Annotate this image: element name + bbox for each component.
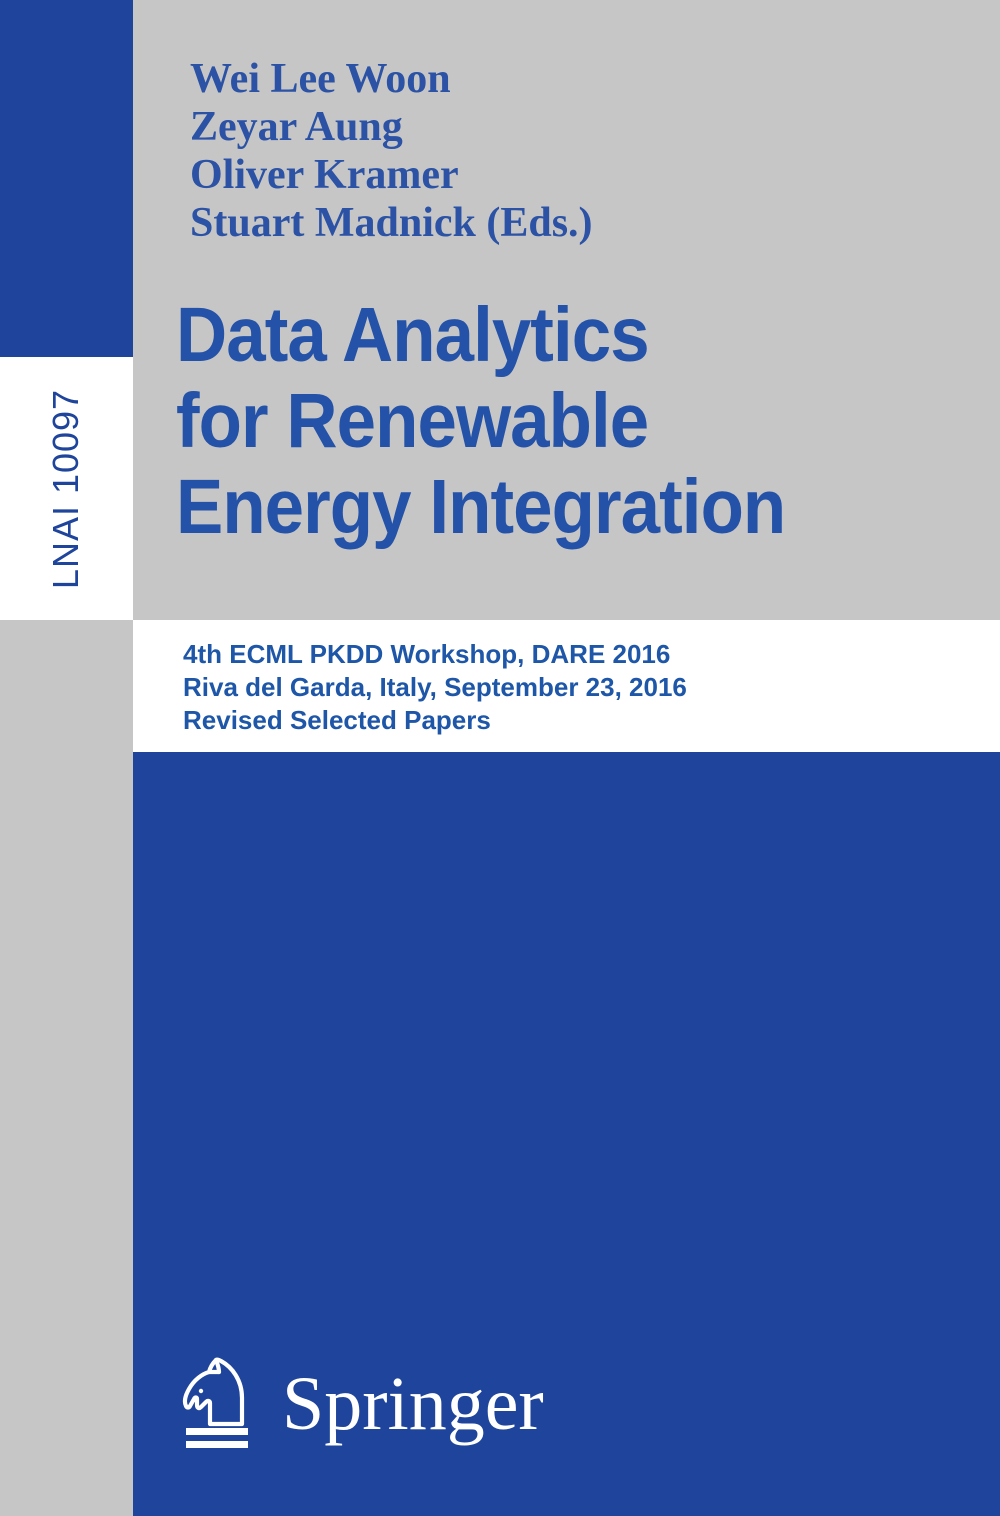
book-title-line: Energy Integration bbox=[176, 464, 912, 550]
spine-series-text: LNAI 10097 bbox=[46, 388, 88, 588]
book-cover: LNAI 10097 Wei Lee Woon Zeyar Aung Olive… bbox=[0, 0, 1000, 1516]
editor-name: Zeyar Aung bbox=[190, 103, 930, 151]
spine-top-blue-bar bbox=[0, 0, 133, 357]
editor-name: Stuart Madnick (Eds.) bbox=[190, 199, 930, 247]
book-subtitle-line: Riva del Garda, Italy, September 23, 201… bbox=[183, 671, 943, 704]
editor-list: Wei Lee Woon Zeyar Aung Oliver Kramer St… bbox=[190, 55, 930, 247]
left-gray-strip bbox=[0, 620, 133, 1516]
publisher-logo: Springer bbox=[172, 1352, 544, 1452]
book-title: Data Analytics for Renewable Energy Inte… bbox=[176, 292, 976, 550]
book-title-line: for Renewable bbox=[176, 378, 912, 464]
book-title-line: Data Analytics bbox=[176, 292, 912, 378]
publisher-name: Springer bbox=[282, 1364, 544, 1444]
book-subtitle-line: 4th ECML PKDD Workshop, DARE 2016 bbox=[183, 638, 943, 671]
editor-name: Oliver Kramer bbox=[190, 151, 930, 199]
book-subtitle-line: Revised Selected Papers bbox=[183, 704, 943, 737]
springer-knight-icon bbox=[172, 1352, 268, 1452]
book-subtitle: 4th ECML PKDD Workshop, DARE 2016 Riva d… bbox=[183, 638, 943, 737]
editor-name: Wei Lee Woon bbox=[190, 55, 930, 103]
spine-series-label: LNAI 10097 bbox=[0, 357, 133, 620]
